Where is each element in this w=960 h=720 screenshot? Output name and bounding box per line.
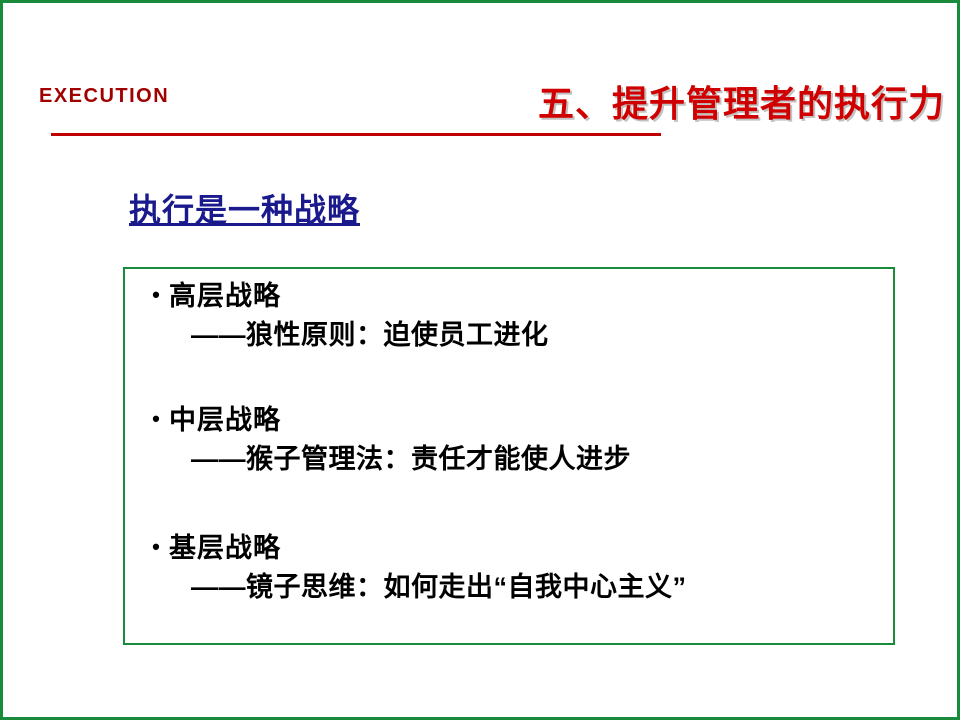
bullet-heading: 中层战略 xyxy=(169,401,281,440)
bullet-dot-icon: • xyxy=(143,529,169,564)
bullet-subtext: ——狼性原则：迫使员工进化 xyxy=(191,316,883,355)
page-title: 五、提升管理者的执行力 xyxy=(538,75,945,127)
content-box: • 高层战略 ——狼性原则：迫使员工进化 • 中层战略 ——猴子管理法：责任才能… xyxy=(123,267,895,645)
bullet-line: • 中层战略 xyxy=(143,401,883,440)
bullet-heading: 高层战略 xyxy=(169,277,281,316)
list-item: • 中层战略 ——猴子管理法：责任才能使人进步 xyxy=(143,401,883,479)
bullet-dot-icon: • xyxy=(143,277,169,312)
bullet-subtext: ——镜子思维：如何走出“自我中心主义” xyxy=(191,568,891,607)
bullet-line: • 高层战略 xyxy=(143,277,883,316)
list-item: • 基层战略 ——镜子思维：如何走出“自我中心主义” xyxy=(143,529,883,607)
header-divider xyxy=(51,133,661,136)
bullet-subtext: ——猴子管理法：责任才能使人进步 xyxy=(191,440,883,479)
header-eyebrow: EXECUTION xyxy=(39,85,169,108)
bullet-dot-icon: • xyxy=(143,401,169,436)
list-item: • 高层战略 ——狼性原则：迫使员工进化 xyxy=(143,277,883,355)
bullet-heading: 基层战略 xyxy=(169,529,281,568)
bullet-line: • 基层战略 xyxy=(143,529,883,568)
slide-header: EXECUTION 五、提升管理者的执行力 xyxy=(3,3,960,143)
slide: EXECUTION 五、提升管理者的执行力 执行是一种战略 • 高层战略 ——狼… xyxy=(0,0,960,720)
section-subtitle: 执行是一种战略 xyxy=(129,185,360,231)
